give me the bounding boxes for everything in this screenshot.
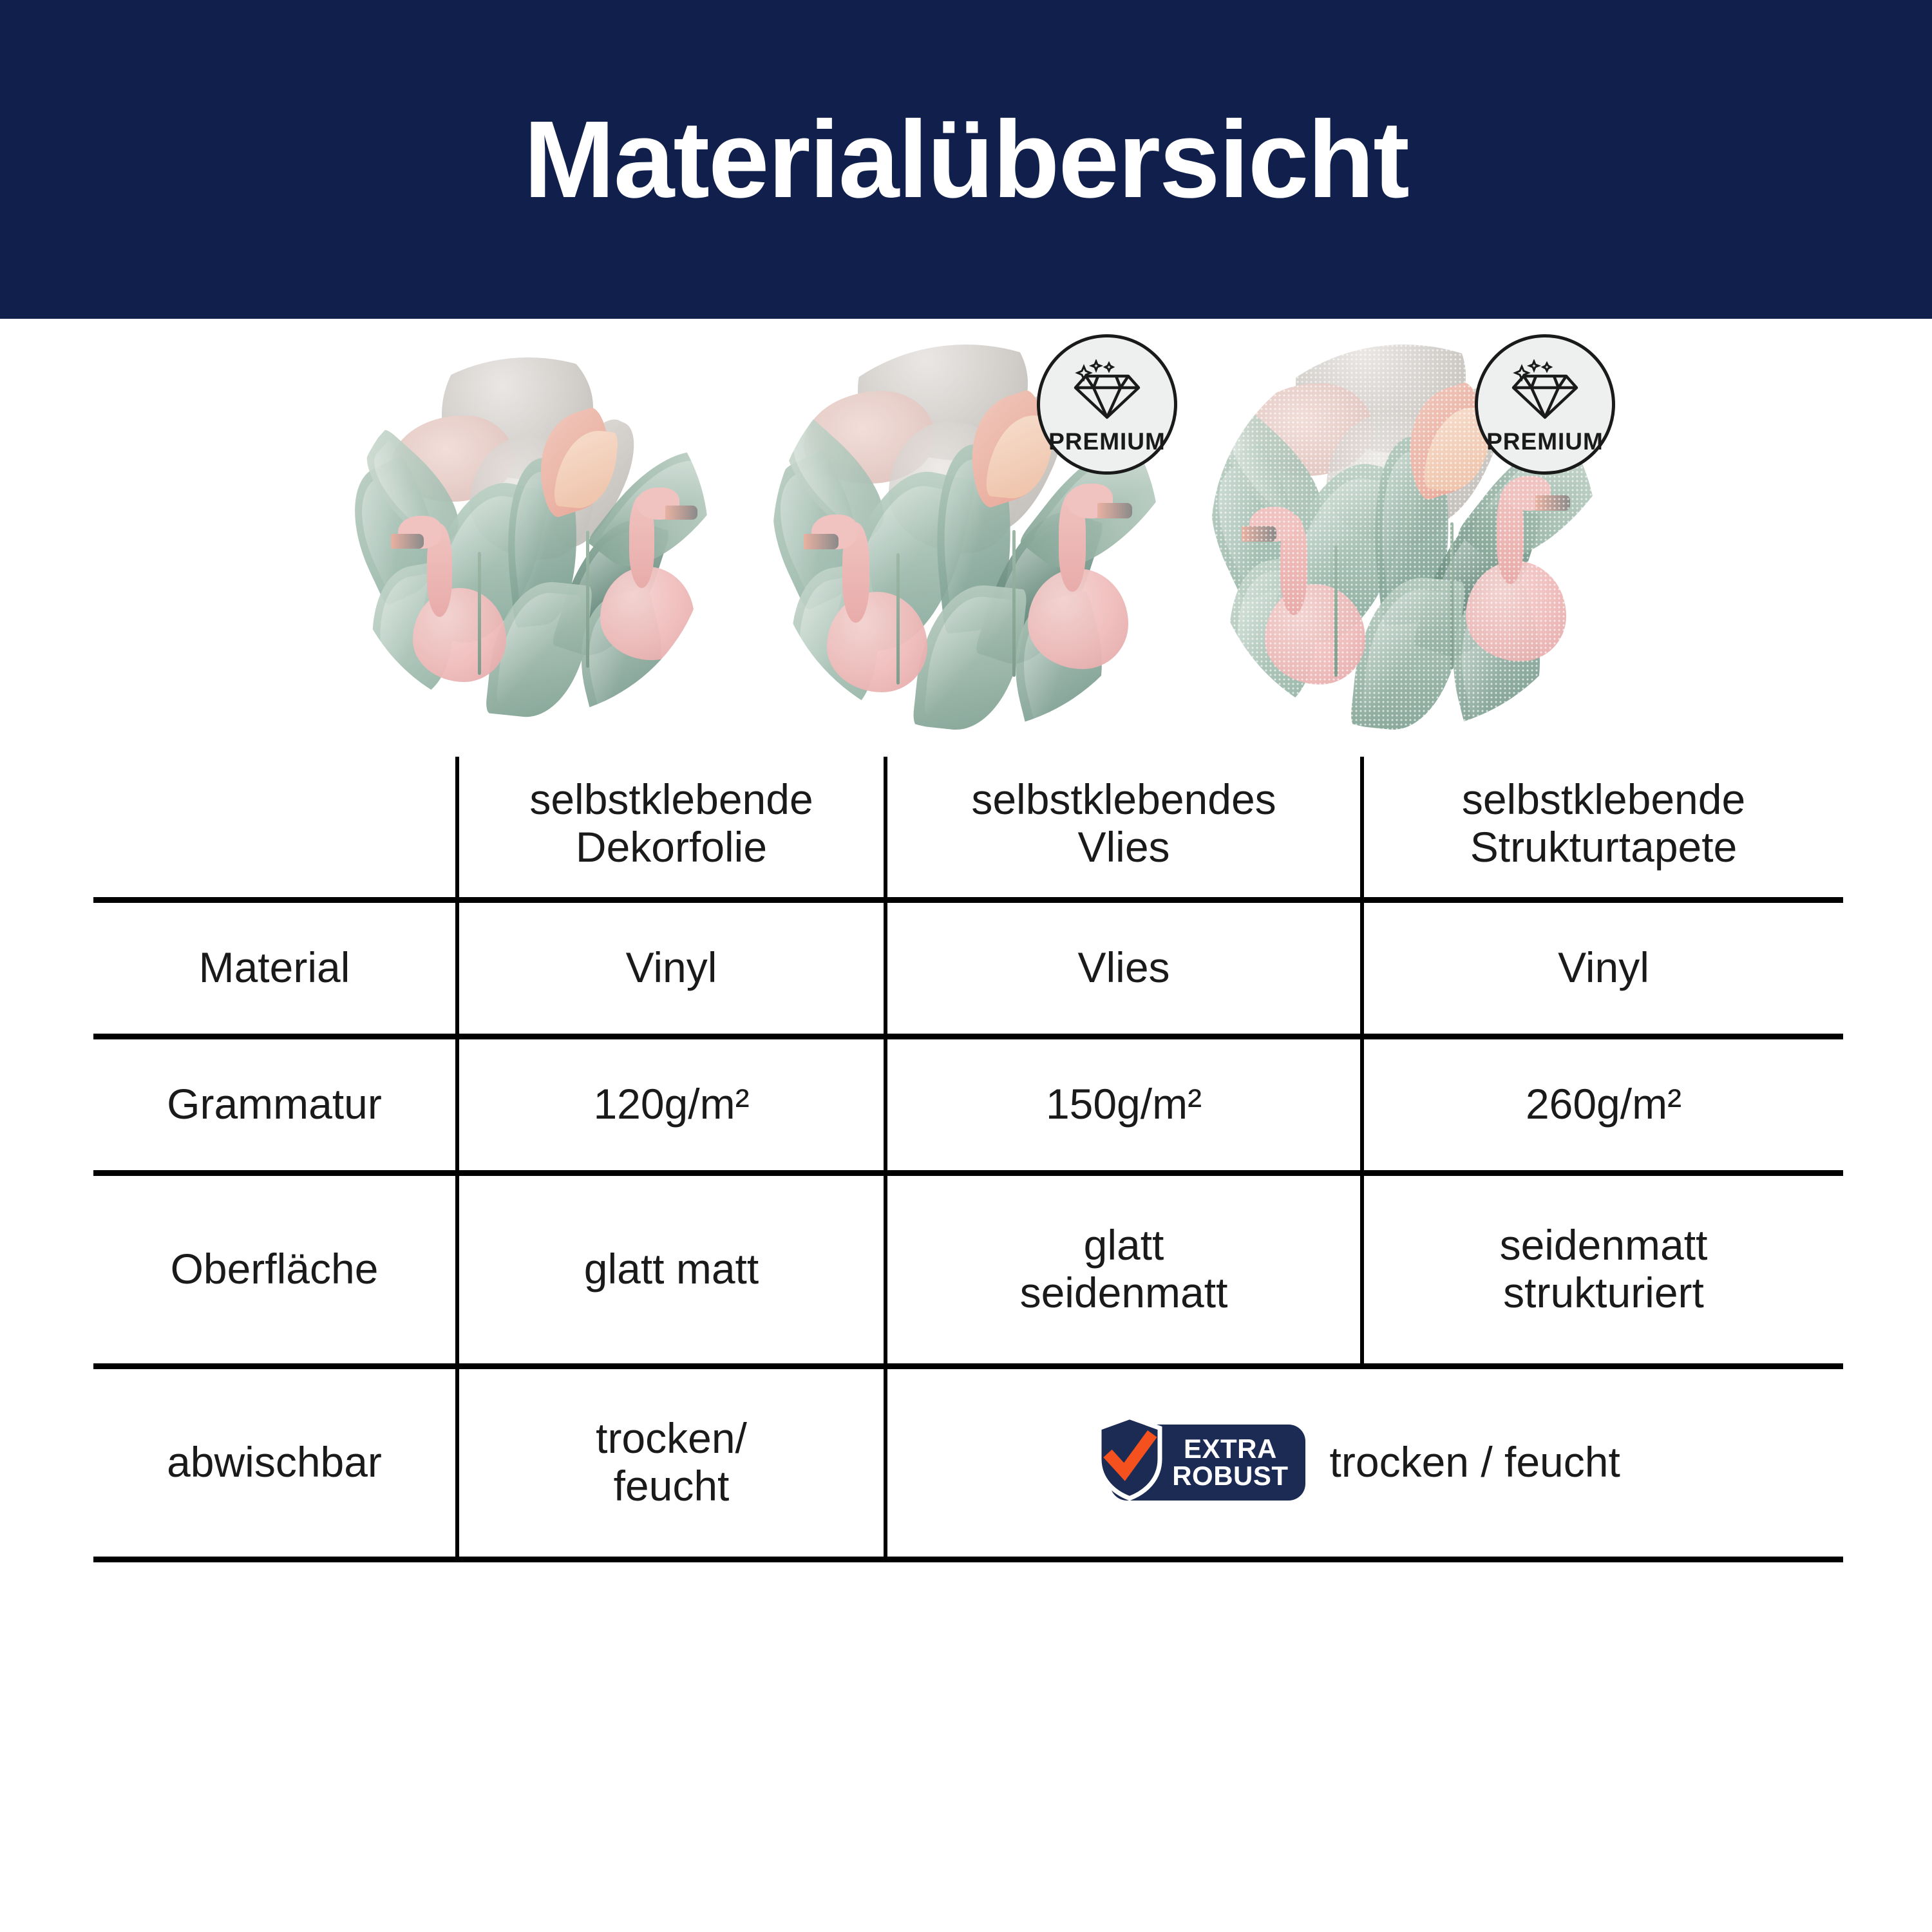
extra-robust-badge: EXTRA ROBUST — [1110, 1425, 1305, 1501]
table-row: Grammatur 120g/m² 150g/m² 260g/m² — [93, 1036, 1843, 1173]
robust-line-2: ROBUST — [1172, 1463, 1288, 1490]
cell-abwischbar-merged-text: trocken / feucht — [1330, 1439, 1620, 1486]
header-banner: Materialübersicht — [0, 0, 1932, 319]
table-header-row: selbstklebende Dekorfolie selbstklebende… — [93, 757, 1843, 900]
column-header-strukturtapete: selbstklebende Strukturtapete — [1362, 757, 1843, 900]
cell-abwischbar-dekorfolie: trocken/ feucht — [457, 1366, 885, 1559]
cell-oberflaeche-strukturtapete: seidenmatt strukturiert — [1362, 1173, 1843, 1366]
column-header-vlies: selbstklebendes Vlies — [885, 757, 1362, 900]
premium-badge: PREMIUM — [1475, 334, 1615, 475]
swatch-strip: PREMIUM — [0, 319, 1932, 757]
column-header-line1: selbstklebende — [1374, 776, 1833, 824]
material-spec-table: selbstklebende Dekorfolie selbstklebende… — [93, 757, 1843, 1562]
column-header-line1: selbstklebende — [469, 776, 873, 824]
premium-badge: PREMIUM — [1037, 334, 1177, 475]
cell-abwischbar-merged: EXTRA ROBUST trocken / feucht — [885, 1366, 1843, 1559]
row-label-abwischbar: abwischbar — [93, 1366, 457, 1559]
swatch-dekorfolie[interactable] — [328, 338, 728, 737]
swatch-image-dekorfolie — [348, 357, 708, 718]
cell-material-vlies: Vlies — [885, 900, 1362, 1036]
diamond-icon — [1507, 359, 1583, 424]
table-row: Oberfläche glatt matt glatt seidenmatt s… — [93, 1173, 1843, 1366]
row-label-grammatur: Grammatur — [93, 1036, 457, 1173]
table-row: Material Vinyl Vlies Vinyl — [93, 900, 1843, 1036]
swatch-strukturtapete[interactable]: PREMIUM — [1204, 338, 1604, 737]
cell-grammatur-dekorfolie: 120g/m² — [457, 1036, 885, 1173]
cell-grammatur-vlies: 150g/m² — [885, 1036, 1362, 1173]
row-label-material: Material — [93, 900, 457, 1036]
column-header-line1: selbstklebendes — [898, 776, 1350, 824]
diamond-icon — [1069, 359, 1145, 424]
table-row: abwischbar trocken/ feucht — [93, 1366, 1843, 1559]
column-header-line2: Vlies — [898, 824, 1350, 871]
swatch-vlies[interactable]: PREMIUM — [766, 338, 1166, 737]
column-header-line2: Dekorfolie — [469, 824, 873, 871]
cell-material-strukturtapete: Vinyl — [1362, 900, 1843, 1036]
column-header-dekorfolie: selbstklebende Dekorfolie — [457, 757, 885, 900]
table-corner-cell — [93, 757, 457, 900]
cell-material-dekorfolie: Vinyl — [457, 900, 885, 1036]
shield-check-icon — [1094, 1414, 1166, 1511]
cell-grammatur-strukturtapete: 260g/m² — [1362, 1036, 1843, 1173]
material-spec-table-wrap: selbstklebende Dekorfolie selbstklebende… — [0, 757, 1932, 1562]
robust-line-1: EXTRA — [1172, 1435, 1288, 1463]
tropical-artwork — [348, 357, 708, 718]
row-label-oberflaeche: Oberfläche — [93, 1173, 457, 1366]
cell-oberflaeche-dekorfolie: glatt matt — [457, 1173, 885, 1366]
cell-oberflaeche-vlies: glatt seidenmatt — [885, 1173, 1362, 1366]
page-title: Materialübersicht — [524, 105, 1408, 214]
premium-label: PREMIUM — [1486, 428, 1604, 455]
premium-label: PREMIUM — [1048, 428, 1166, 455]
column-header-line2: Strukturtapete — [1374, 824, 1833, 871]
